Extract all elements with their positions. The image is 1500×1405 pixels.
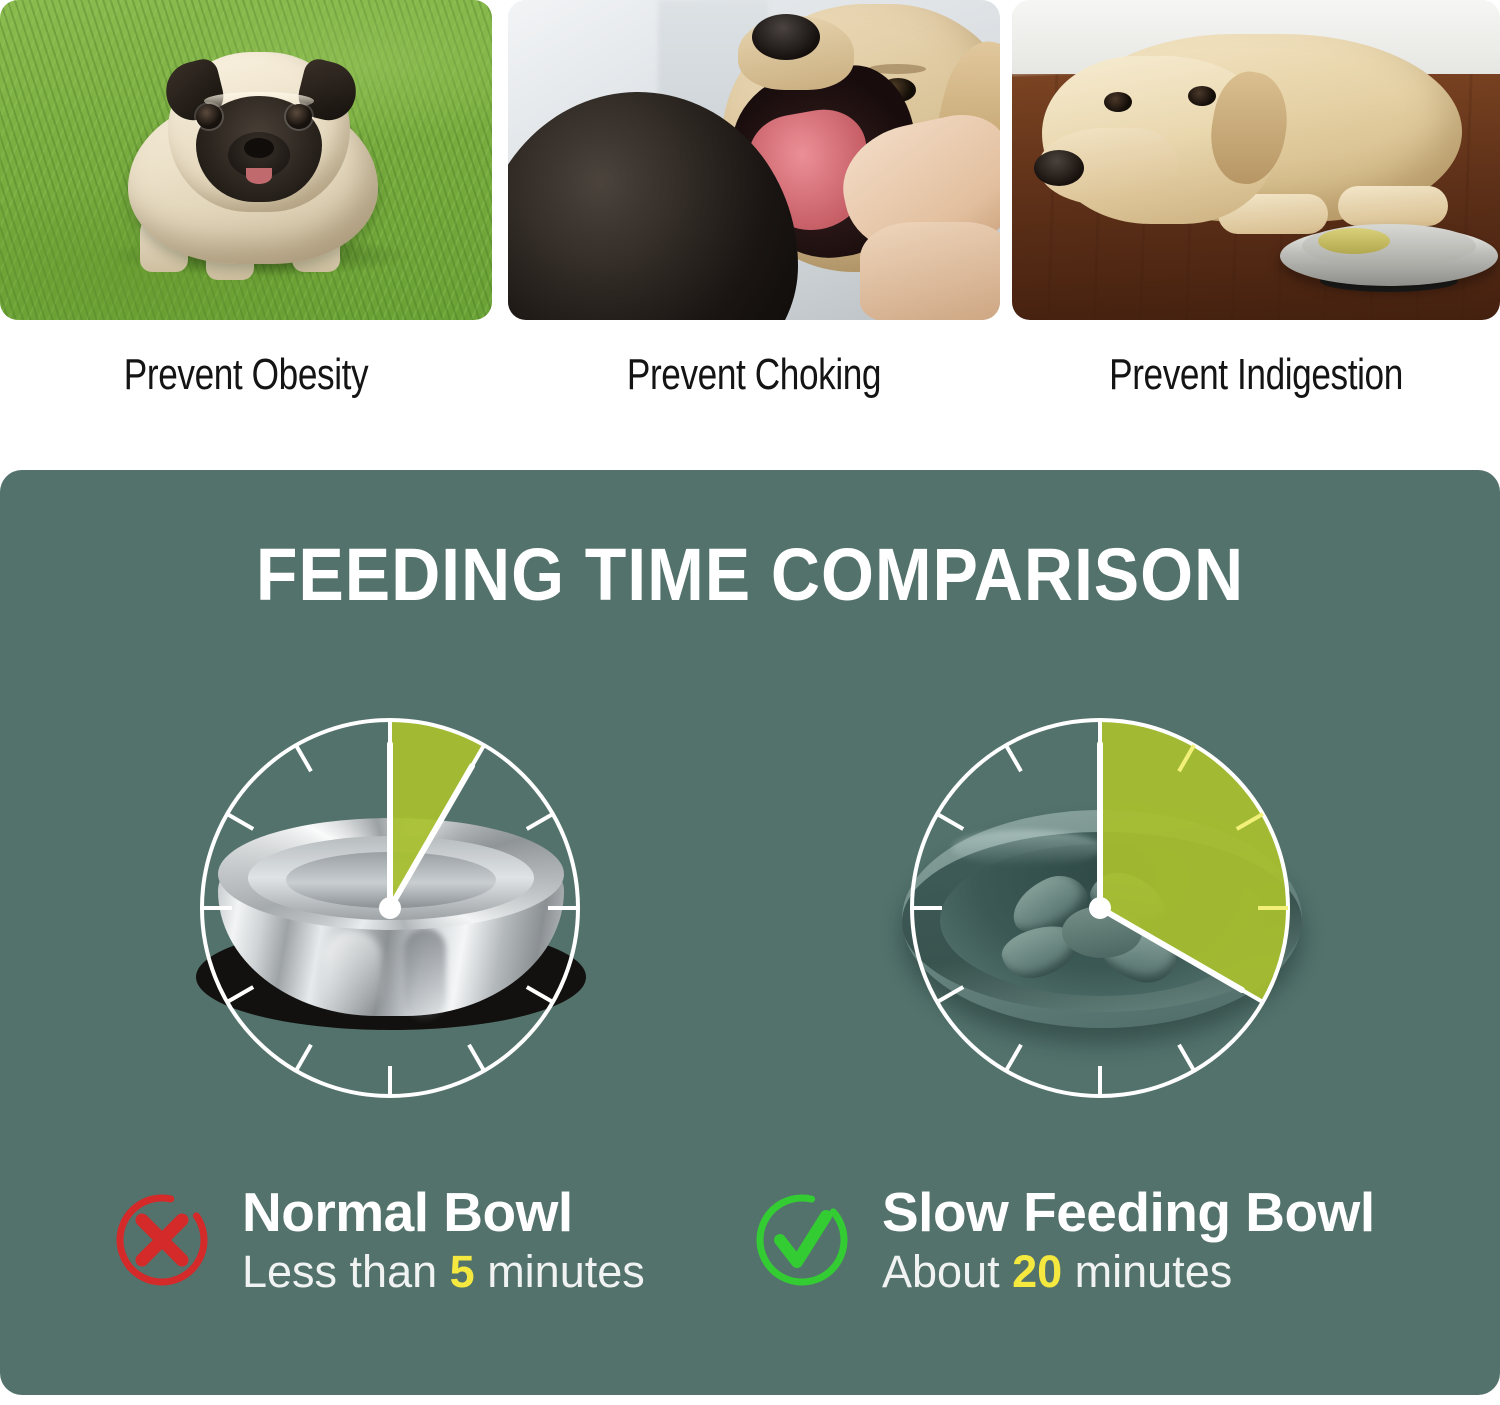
pug-eye bbox=[196, 104, 222, 129]
clock-normal-bowl bbox=[160, 678, 620, 1138]
steel-food-bowl bbox=[1280, 200, 1498, 296]
clock-center-right bbox=[1089, 897, 1111, 919]
benefit-card-obesity: Prevent Obesity bbox=[0, 0, 492, 400]
labrador-nose bbox=[1034, 150, 1084, 186]
pug-nose bbox=[244, 138, 274, 158]
feeding-time-comparison-panel: FEEDING TIME COMPARISON bbox=[0, 470, 1500, 1395]
benefits-strip: Prevent Obesity Prevent Choking bbox=[0, 0, 1500, 470]
pug-eye bbox=[286, 104, 312, 129]
pug-tongue bbox=[246, 168, 272, 184]
result-subtitle-slow: About 20 minutes bbox=[882, 1246, 1375, 1298]
cross-icon bbox=[110, 1188, 214, 1292]
result-slow-feeding-bowl: Slow Feeding Bowl About 20 minutes bbox=[750, 1180, 1450, 1330]
result-sub-suffix-normal: minutes bbox=[475, 1246, 645, 1297]
benefit-card-indigestion: Prevent Indigestion bbox=[1012, 0, 1500, 400]
result-sub-value-slow: 20 bbox=[1012, 1246, 1062, 1297]
photo-dog-choking bbox=[508, 0, 1000, 320]
photo-fat-pug-on-grass bbox=[0, 0, 492, 320]
photo-dog-with-bowl bbox=[1012, 0, 1500, 320]
result-text-normal: Normal Bowl Less than 5 minutes bbox=[242, 1180, 645, 1298]
result-normal-bowl: Normal Bowl Less than 5 minutes bbox=[110, 1180, 750, 1330]
labrador-eye bbox=[1188, 86, 1216, 106]
result-title-slow: Slow Feeding Bowl bbox=[882, 1180, 1375, 1244]
benefit-label-indigestion: Prevent Indigestion bbox=[1061, 350, 1451, 400]
clock-slow-feeding-bowl bbox=[870, 678, 1330, 1138]
result-subtitle-normal: Less than 5 minutes bbox=[242, 1246, 645, 1298]
benefit-label-choking: Prevent Choking bbox=[557, 350, 951, 400]
dog-nose bbox=[752, 14, 820, 60]
result-sub-prefix-normal: Less than bbox=[242, 1246, 450, 1297]
clock-center-left bbox=[379, 897, 401, 919]
clock-dial-right bbox=[870, 678, 1330, 1138]
benefit-label-obesity: Prevent Obesity bbox=[49, 350, 443, 400]
benefit-card-choking: Prevent Choking bbox=[508, 0, 1000, 400]
result-sub-suffix-slow: minutes bbox=[1062, 1246, 1232, 1297]
result-sub-prefix-slow: About bbox=[882, 1246, 1012, 1297]
clock-dial-left bbox=[160, 678, 620, 1138]
result-sub-value-normal: 5 bbox=[450, 1246, 475, 1297]
page-title: FEEDING TIME COMPARISON bbox=[60, 532, 1440, 617]
result-text-slow: Slow Feeding Bowl About 20 minutes bbox=[882, 1180, 1375, 1298]
check-icon bbox=[750, 1188, 854, 1292]
dog-food bbox=[1318, 228, 1390, 254]
labrador-eye bbox=[1104, 92, 1132, 112]
result-title-normal: Normal Bowl bbox=[242, 1180, 645, 1244]
human-hand-lower bbox=[860, 222, 1000, 320]
